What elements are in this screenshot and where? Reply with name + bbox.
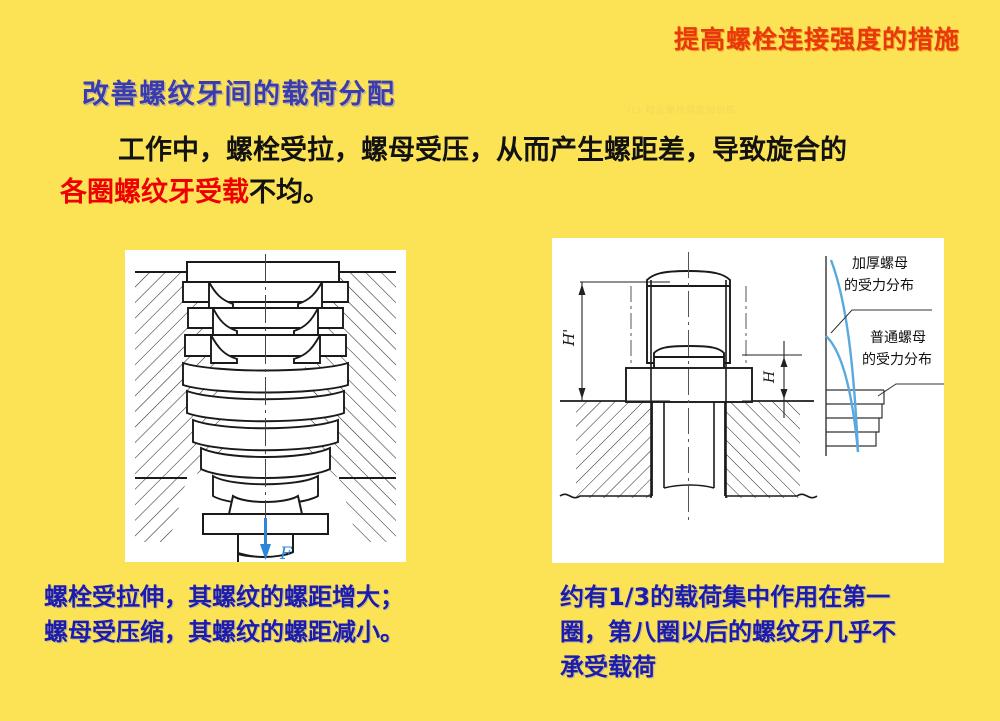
- body-paragraph: 工作中，螺栓受拉，螺母受压，从而产生螺距差，导致旋合的 各圈螺纹牙受载不均。: [60, 130, 970, 214]
- body-line-2-rest: 不均。: [249, 177, 330, 208]
- caption-right-line-3: 承受载荷: [560, 650, 980, 685]
- body-highlight-text: 各圈螺纹牙受载: [60, 177, 249, 208]
- body-line-1-text: 工作中，螺栓受拉，螺母受压，从而产生螺距差，导致旋合的: [118, 135, 847, 166]
- thick-nut-distribution-curve: [826, 336, 858, 452]
- annotation-ordinary-nut-line1: 普通螺母: [870, 330, 926, 346]
- annotation-ordinary-nut-line2: 的受力分布: [862, 352, 932, 368]
- figure-right-load-distribution: H' H: [552, 238, 944, 563]
- body-line-2: 各圈螺纹牙受载不均。: [60, 172, 970, 214]
- annotation-thick-nut-line2: 的受力分布: [844, 278, 914, 294]
- force-label-F: F: [279, 544, 293, 562]
- slide-canvas: 提高螺栓连接强度的措施 改善螺纹牙间的载荷分配 (c) 精品螺栓强度知识库 工作…: [0, 0, 1000, 721]
- leader-ordinary-nut: [878, 384, 944, 396]
- annotation-thick-nut-line1: 加厚螺母: [852, 256, 908, 272]
- bolt-thread-engagement-drawing: F: [125, 250, 406, 562]
- caption-left: 螺栓受拉伸，其螺纹的螺距增大； 螺母受压缩，其螺纹的螺距减小。: [44, 580, 524, 650]
- caption-left-line-1: 螺栓受拉伸，其螺纹的螺距增大；: [44, 580, 524, 615]
- dimension-label-H-prime: H': [560, 329, 578, 347]
- caption-right-line-2: 圈，第八圈以后的螺纹牙几乎不: [560, 615, 980, 650]
- body-line-1: 工作中，螺栓受拉，螺母受压，从而产生螺距差，导致旋合的: [60, 130, 970, 172]
- caption-right-line-1: 约有1/3的载荷集中作用在第一: [560, 580, 980, 615]
- caption-right: 约有1/3的载荷集中作用在第一 圈，第八圈以后的螺纹牙几乎不 承受载荷: [560, 580, 980, 684]
- caption-left-line-2: 螺母受压缩，其螺纹的螺距减小。: [44, 615, 524, 650]
- bolt-top-plate: [187, 262, 339, 282]
- nut-load-distribution-drawing: H' H: [552, 238, 944, 563]
- dimension-label-H: H: [762, 370, 778, 384]
- watermark-text: (c) 精品螺栓强度知识库: [627, 103, 736, 116]
- page-header-title: 提高螺栓连接强度的措施: [674, 20, 960, 56]
- figure-left-bolt-thread-section: F: [125, 250, 406, 562]
- section-subtitle: 改善螺纹牙间的载荷分配: [82, 72, 396, 111]
